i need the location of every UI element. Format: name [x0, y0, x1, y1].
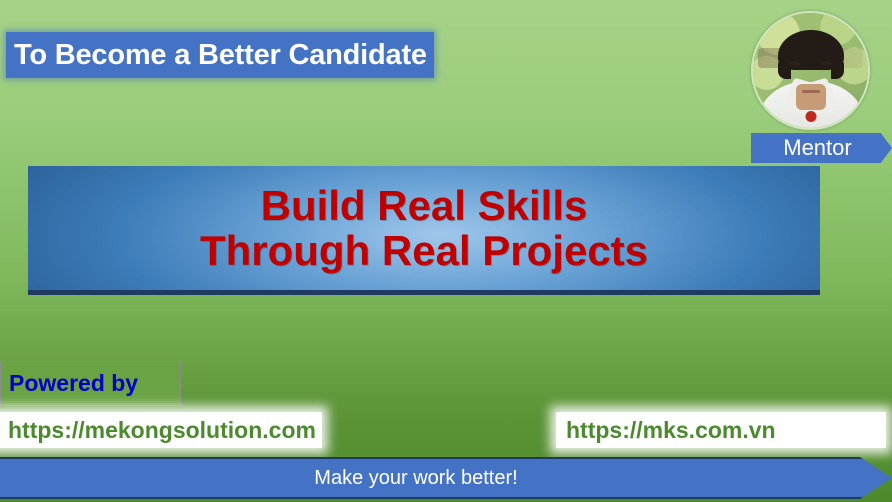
- photo-eye-left: [789, 61, 800, 66]
- link-box-mekongsolution[interactable]: https://mekongsolution.com: [0, 412, 322, 448]
- powered-by-text: Powered by: [9, 372, 138, 395]
- link-text-mks[interactable]: https://mks.com.vn: [566, 419, 776, 442]
- mentor-label-text: Mentor: [783, 137, 851, 159]
- main-message-banner: Build Real Skills Through Real Projects: [28, 166, 820, 295]
- footer-tagline: Make your work better!: [314, 468, 517, 488]
- photo-mouth: [802, 90, 820, 93]
- photo-eye-right: [821, 61, 832, 66]
- mentor-label-chevron: Mentor: [751, 133, 892, 163]
- photo-shirt-button: [805, 111, 816, 122]
- link-box-mks[interactable]: https://mks.com.vn: [556, 412, 886, 448]
- mentor-photo: [751, 11, 870, 130]
- link-text-mekongsolution[interactable]: https://mekongsolution.com: [8, 419, 316, 442]
- main-message-line-2: Through Real Projects: [200, 228, 648, 273]
- slide-canvas: To Become a Better Candidate Mentor Buil…: [0, 0, 892, 502]
- main-message-line-1: Build Real Skills: [261, 183, 588, 228]
- headline-banner: To Become a Better Candidate: [6, 32, 434, 78]
- footer-chevron-banner: Make your work better!: [0, 457, 892, 499]
- headline-text: To Become a Better Candidate: [14, 41, 427, 70]
- powered-by-box: Powered by: [0, 361, 181, 406]
